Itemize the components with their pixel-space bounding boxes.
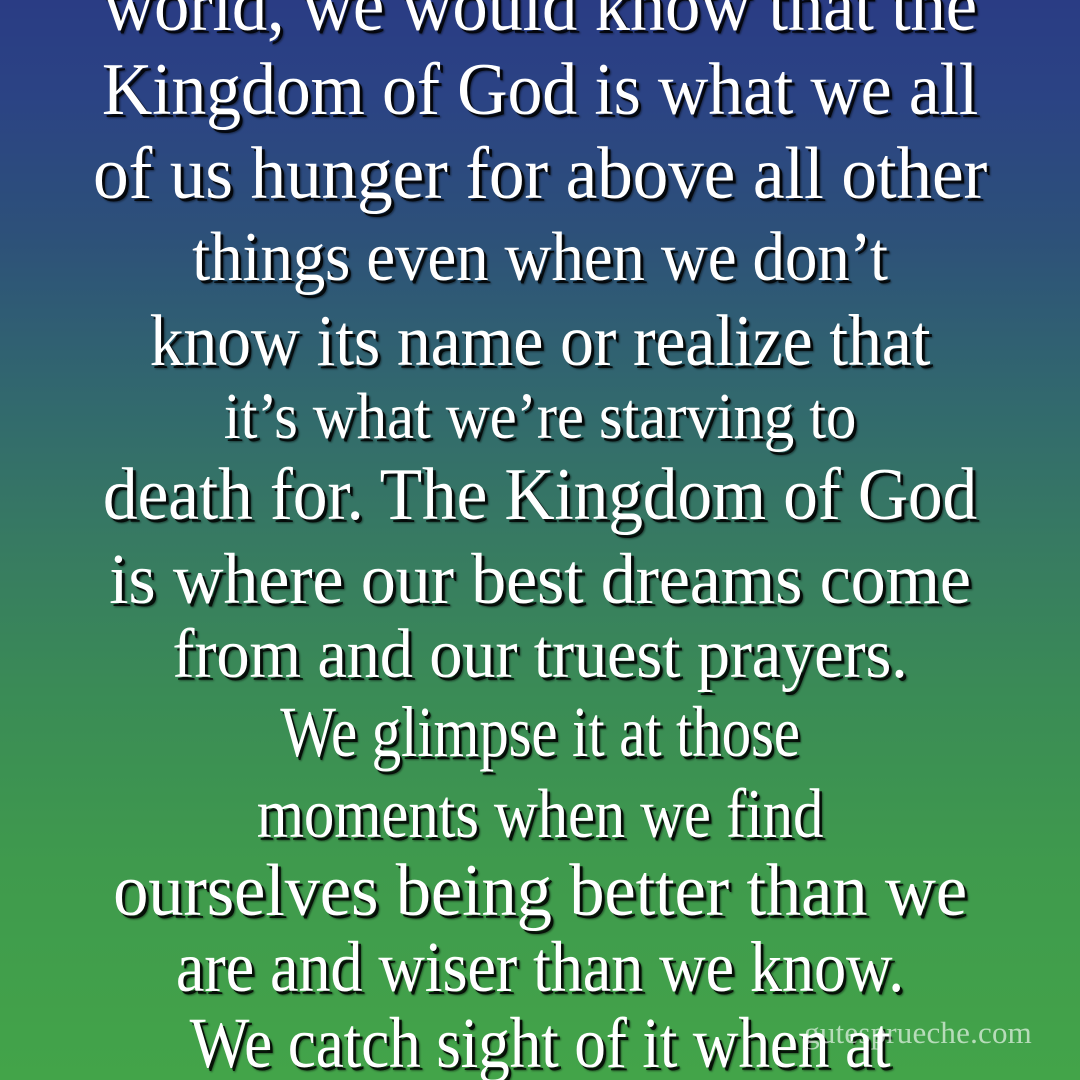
quote-line: death for. The Kingdom of God: [32, 452, 1047, 538]
quote-line: of us hunger for above all other: [19, 132, 1061, 216]
quote-line: moments when we find: [70, 774, 1010, 856]
quote-line: Kingdom of God is what we all: [30, 48, 1051, 132]
quote-line: are and wiser than we know.: [57, 926, 1024, 1008]
quote-line: know its name or realize that: [38, 300, 1042, 382]
quote-line: is where our best dreams come: [14, 538, 1067, 620]
quote-line: it’s what we’re starving to: [41, 382, 1040, 452]
quote-image-card: world, we would know that the Kingdom of…: [0, 0, 1080, 1080]
quote-line: We glimpse it at those: [97, 690, 983, 774]
quote-line: things even when we don’t: [38, 216, 1042, 300]
quote-line: from and our truest prayers.: [27, 620, 1053, 690]
quote-line: world, we would know that the: [24, 0, 1055, 48]
site-watermark: gutesprueche.com: [804, 1017, 1032, 1048]
quote-text-block: world, we would know that the Kingdom of…: [0, 0, 1080, 1080]
quote-line: ourselves being better than we: [24, 856, 1055, 926]
